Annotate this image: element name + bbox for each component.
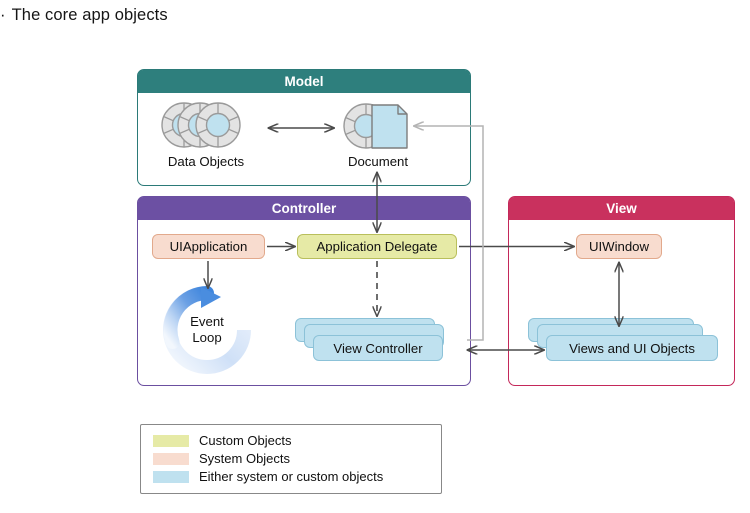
event-loop-label: Event Loop — [163, 314, 251, 346]
view-controller-card-front[interactable]: View Controller — [313, 335, 443, 361]
data-objects-icon — [160, 100, 252, 150]
legend-label-custom: Custom Objects — [199, 433, 291, 448]
document-icon — [342, 100, 414, 152]
node-uiapplication[interactable]: UIApplication — [152, 234, 265, 259]
node-view-controller[interactable]: View Controller — [295, 318, 465, 363]
data-objects-label: Data Objects — [150, 154, 262, 169]
legend-label-system: System Objects — [199, 451, 290, 466]
node-application-delegate-label: Application Delegate — [317, 240, 438, 253]
node-uiapplication-label: UIApplication — [170, 240, 248, 253]
legend-item-either: Either system or custom objects — [153, 468, 441, 485]
node-view-controller-label: View Controller — [333, 341, 422, 356]
legend: Custom Objects System Objects Either sys… — [140, 424, 442, 494]
bullet-marker: · — [0, 6, 6, 25]
event-loop-label-line2: Loop — [192, 330, 221, 345]
views-card-front[interactable]: Views and UI Objects — [546, 335, 718, 361]
document-label: Document — [330, 154, 426, 169]
event-loop: Event Loop — [163, 286, 251, 374]
event-loop-label-line1: Event — [190, 314, 224, 329]
page-title: ·The core app objects — [0, 6, 168, 25]
node-views-and-ui-objects-label: Views and UI Objects — [569, 341, 695, 356]
legend-swatch-custom — [153, 435, 189, 447]
legend-item-system: System Objects — [153, 450, 441, 467]
node-views-and-ui-objects[interactable]: Views and UI Objects — [528, 318, 718, 363]
group-view-header: View — [509, 197, 734, 220]
node-uiwindow-label: UIWindow — [589, 240, 649, 253]
legend-item-custom: Custom Objects — [153, 432, 441, 449]
node-uiwindow[interactable]: UIWindow — [576, 234, 662, 259]
legend-label-either: Either system or custom objects — [199, 469, 383, 484]
legend-swatch-either — [153, 471, 189, 483]
node-application-delegate[interactable]: Application Delegate — [297, 234, 457, 259]
group-controller-header: Controller — [138, 197, 470, 220]
legend-swatch-system — [153, 453, 189, 465]
group-model-header: Model — [138, 70, 470, 93]
page-title-text: The core app objects — [12, 6, 168, 24]
